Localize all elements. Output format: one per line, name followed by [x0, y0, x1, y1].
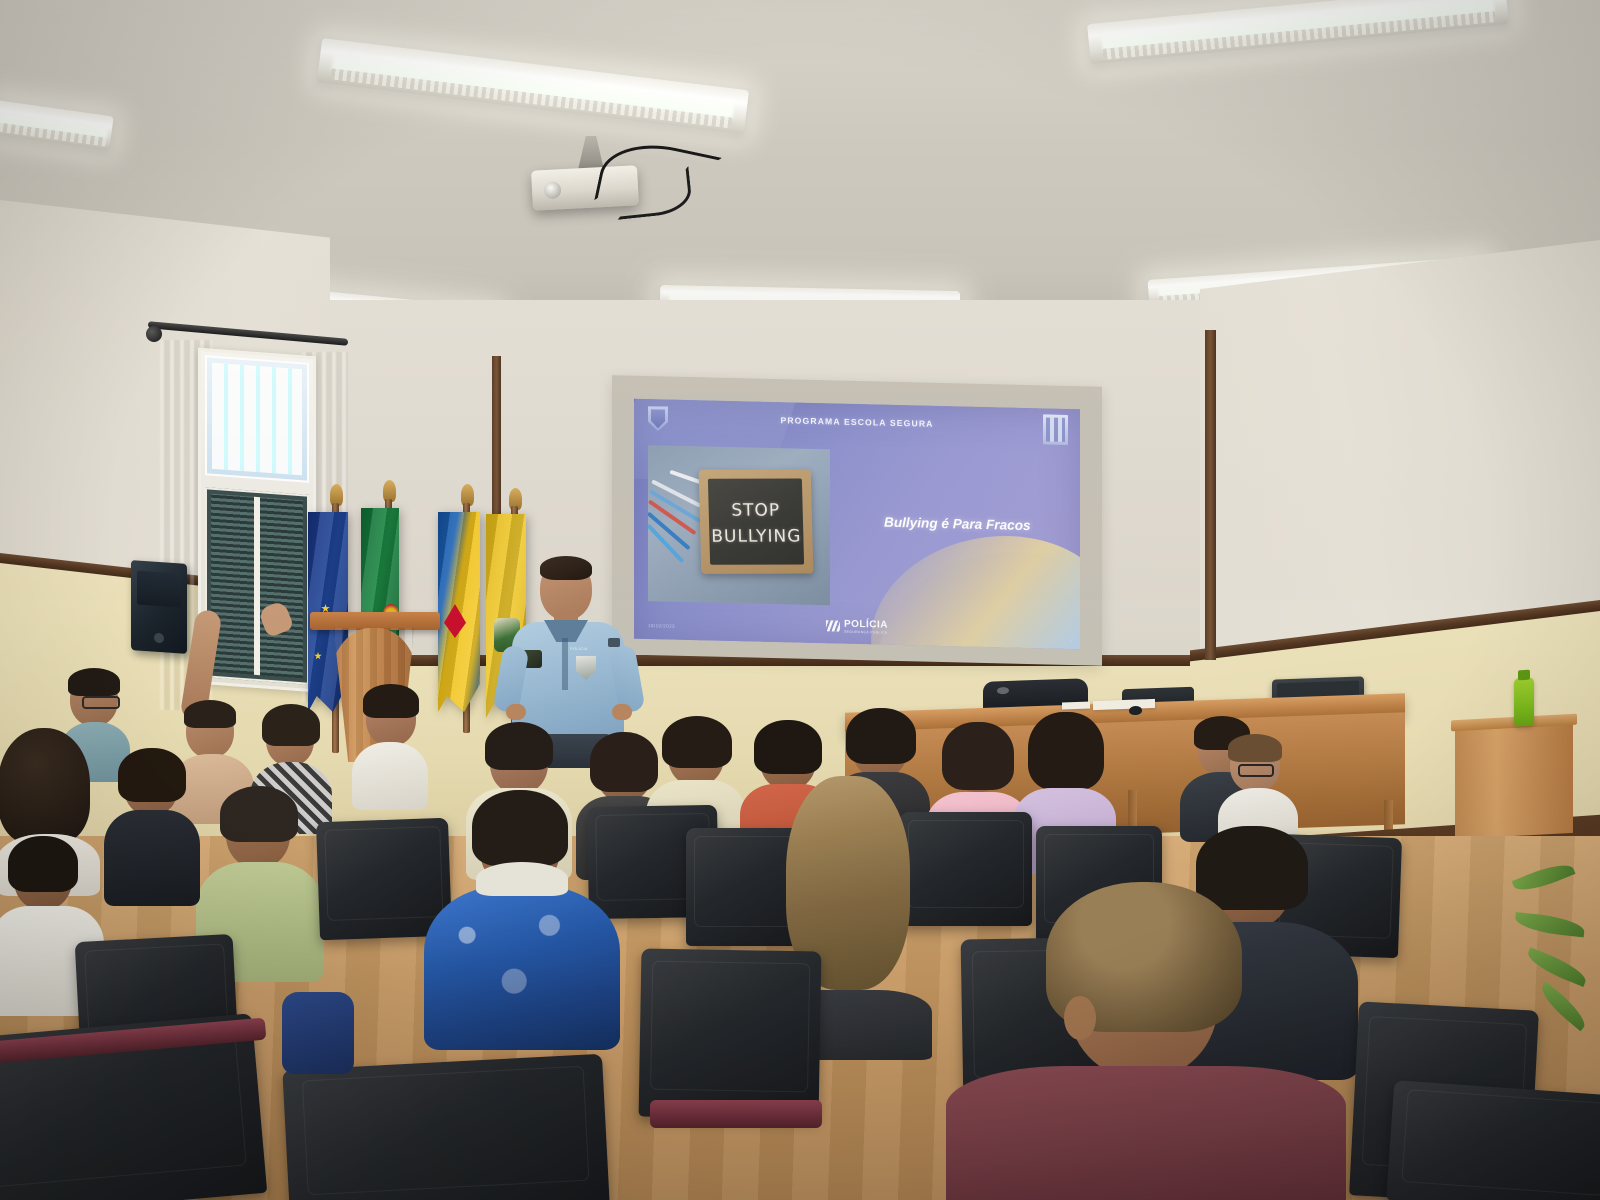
- potted-plant: [1510, 858, 1600, 1028]
- hair: [1028, 712, 1104, 790]
- hair: [485, 722, 553, 770]
- body: [104, 810, 200, 906]
- hair: [472, 790, 568, 866]
- green-water-bottle: [1514, 677, 1534, 726]
- hair: [662, 716, 732, 768]
- hair: [0, 728, 90, 844]
- wall-pillar-right: [1205, 330, 1216, 660]
- chair-seat[interactable]: [650, 1100, 822, 1128]
- chalkboard-text-line1: STOP: [708, 500, 802, 520]
- slide-page-number: 1: [1070, 638, 1072, 643]
- police-brand-subtitle: SEGURANÇA PÚBLICA: [844, 630, 888, 634]
- body: [424, 886, 620, 1050]
- classroom-presentation-photo: PROGRAMA ESCOLA SEGURA STOP BULLYING Bul…: [0, 0, 1600, 1200]
- hair: [220, 786, 298, 842]
- projector-lens: [544, 181, 562, 199]
- papers-stack-secondary: [1062, 702, 1090, 710]
- student-white-shirt-back: [352, 690, 428, 810]
- presenter-hair: [540, 556, 592, 580]
- hair: [1228, 734, 1282, 762]
- projection-screen: PROGRAMA ESCOLA SEGURA STOP BULLYING Bul…: [612, 375, 1102, 666]
- slide-main-title: Bullying é Para Fracos: [884, 515, 1074, 536]
- hair: [68, 668, 120, 696]
- wall-speaker: [131, 560, 187, 654]
- student-back-left-mid: [104, 756, 200, 906]
- chalkboard-text-line2: BULLYING: [709, 526, 803, 546]
- chalkboard: STOP BULLYING: [699, 469, 814, 573]
- hair: [184, 700, 236, 728]
- backpack: [282, 992, 354, 1074]
- hair: [363, 684, 419, 718]
- chair[interactable]: [282, 1054, 609, 1200]
- ear: [1064, 996, 1096, 1040]
- hood: [476, 862, 568, 896]
- plant-leaf-1: [1512, 858, 1576, 897]
- presenter-hand-left: [506, 704, 526, 720]
- hair: [262, 704, 320, 746]
- chair[interactable]: [639, 948, 822, 1119]
- hair: [118, 748, 186, 802]
- student-blue-hoodie: [424, 800, 620, 1050]
- hair: [846, 708, 916, 764]
- presentation-slide: PROGRAMA ESCOLA SEGURA STOP BULLYING Bul…: [634, 399, 1080, 650]
- plant-leaf-2: [1514, 912, 1585, 937]
- window-upper-sash: [205, 355, 309, 483]
- glasses-icon: [1238, 764, 1274, 777]
- presenter-badge-label: POLÍCIA: [570, 646, 588, 651]
- body: [352, 742, 428, 810]
- body: [946, 1066, 1346, 1200]
- chalkboard-slate: STOP BULLYING: [708, 478, 804, 564]
- presenter-hand-right: [612, 704, 632, 720]
- presenter-epaulette: [608, 638, 620, 647]
- presenter-placket: [562, 638, 568, 690]
- chair[interactable]: [1386, 1080, 1600, 1200]
- window-lower-sash: [205, 487, 309, 685]
- police-logo: POLÍCIA SEGURANÇA PÚBLICA: [826, 619, 888, 635]
- side-cabinet: [1455, 723, 1573, 839]
- computer-mouse: [1129, 706, 1142, 715]
- student-maroon-shirt: [946, 870, 1346, 1200]
- chalkboard-photo: STOP BULLYING: [648, 445, 830, 605]
- police-slash-icon: [826, 621, 840, 632]
- hair: [8, 836, 78, 892]
- flag-azores: [438, 512, 480, 712]
- hair: [754, 720, 822, 774]
- slide-date: 18/10/2023: [648, 623, 675, 629]
- glasses-icon: [82, 696, 120, 709]
- plant-leaf-4: [1536, 982, 1591, 1032]
- hair: [942, 722, 1014, 790]
- slide-header-title: PROGRAMA ESCOLA SEGURA: [780, 415, 933, 429]
- plant-leaf-3: [1524, 947, 1590, 987]
